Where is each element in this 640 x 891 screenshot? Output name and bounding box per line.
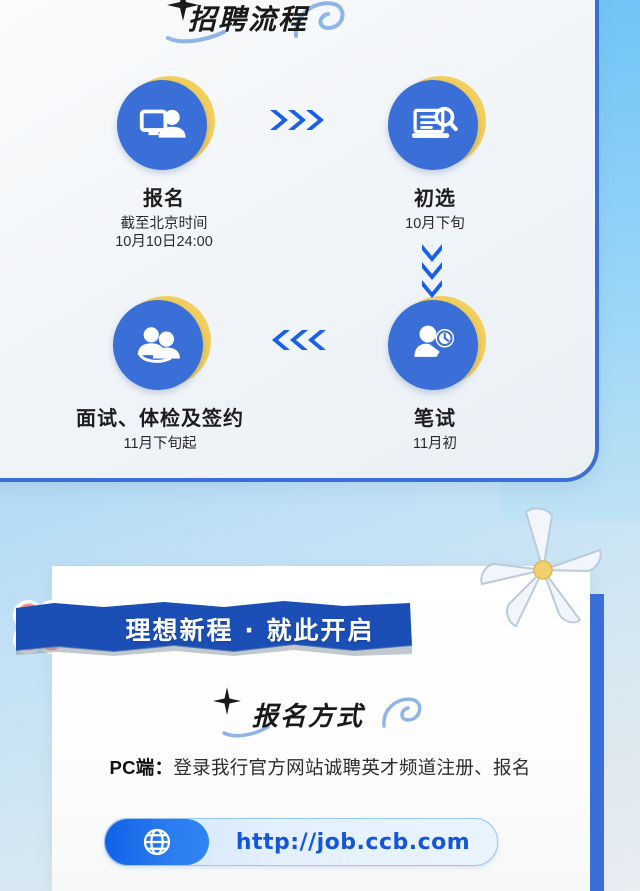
- arrow-right-icon: [268, 108, 328, 132]
- slogan-banner: 理想新程 · 就此开启: [14, 598, 414, 660]
- apply-title-curl-icon: [378, 694, 430, 730]
- step-date: 10月下旬: [345, 215, 525, 233]
- page-title: 招聘流程: [188, 0, 308, 38]
- globe-icon: [105, 819, 209, 865]
- arrow-left-icon: [268, 328, 328, 352]
- step-label: 报名: [74, 182, 254, 211]
- pc-text: 登录我行官方网站诚聘英才频道注册、报名: [173, 757, 530, 778]
- step-date: 11月初: [345, 435, 525, 453]
- person-clock-icon: [388, 300, 478, 390]
- sparkle-icon-2: [212, 686, 242, 716]
- process-step-signup: 报名 截至北京时间 10月10日24:00: [74, 80, 254, 251]
- step-label: 笔试: [345, 402, 525, 431]
- pc-instruction: PC端：登录我行官方网站诚聘英才频道注册、报名: [0, 754, 640, 780]
- pc-label: PC端：: [109, 757, 173, 778]
- apply-method-title: 报名方式: [252, 696, 364, 733]
- process-step-screening: 初选 10月下旬: [345, 80, 525, 233]
- pinwheel-icon: [468, 498, 618, 648]
- process-step-interview: 面试、体检及签约 11月下旬起: [70, 300, 250, 453]
- step-date: 截至北京时间 10月10日24:00: [74, 215, 254, 251]
- slogan-text: 理想新程 · 就此开启: [100, 611, 400, 647]
- two-people-icon: [113, 300, 203, 390]
- step-date: 11月下旬起: [70, 435, 250, 453]
- recruitment-process-card: 招聘流程 报名 截至北京时间 10月10日24:00: [0, 0, 599, 482]
- website-url-text: http://job.ccb.com: [209, 830, 497, 855]
- step-label: 面试、体检及签约: [70, 402, 250, 431]
- desktop-user-icon: [117, 80, 207, 170]
- process-title-block: 招聘流程: [0, 0, 595, 40]
- document-search-icon: [388, 80, 478, 170]
- arrow-down-icon: [420, 242, 444, 302]
- step-label: 初选: [345, 182, 525, 211]
- process-step-written: 笔试 11月初: [345, 300, 525, 453]
- website-url-button[interactable]: http://job.ccb.com: [104, 818, 498, 866]
